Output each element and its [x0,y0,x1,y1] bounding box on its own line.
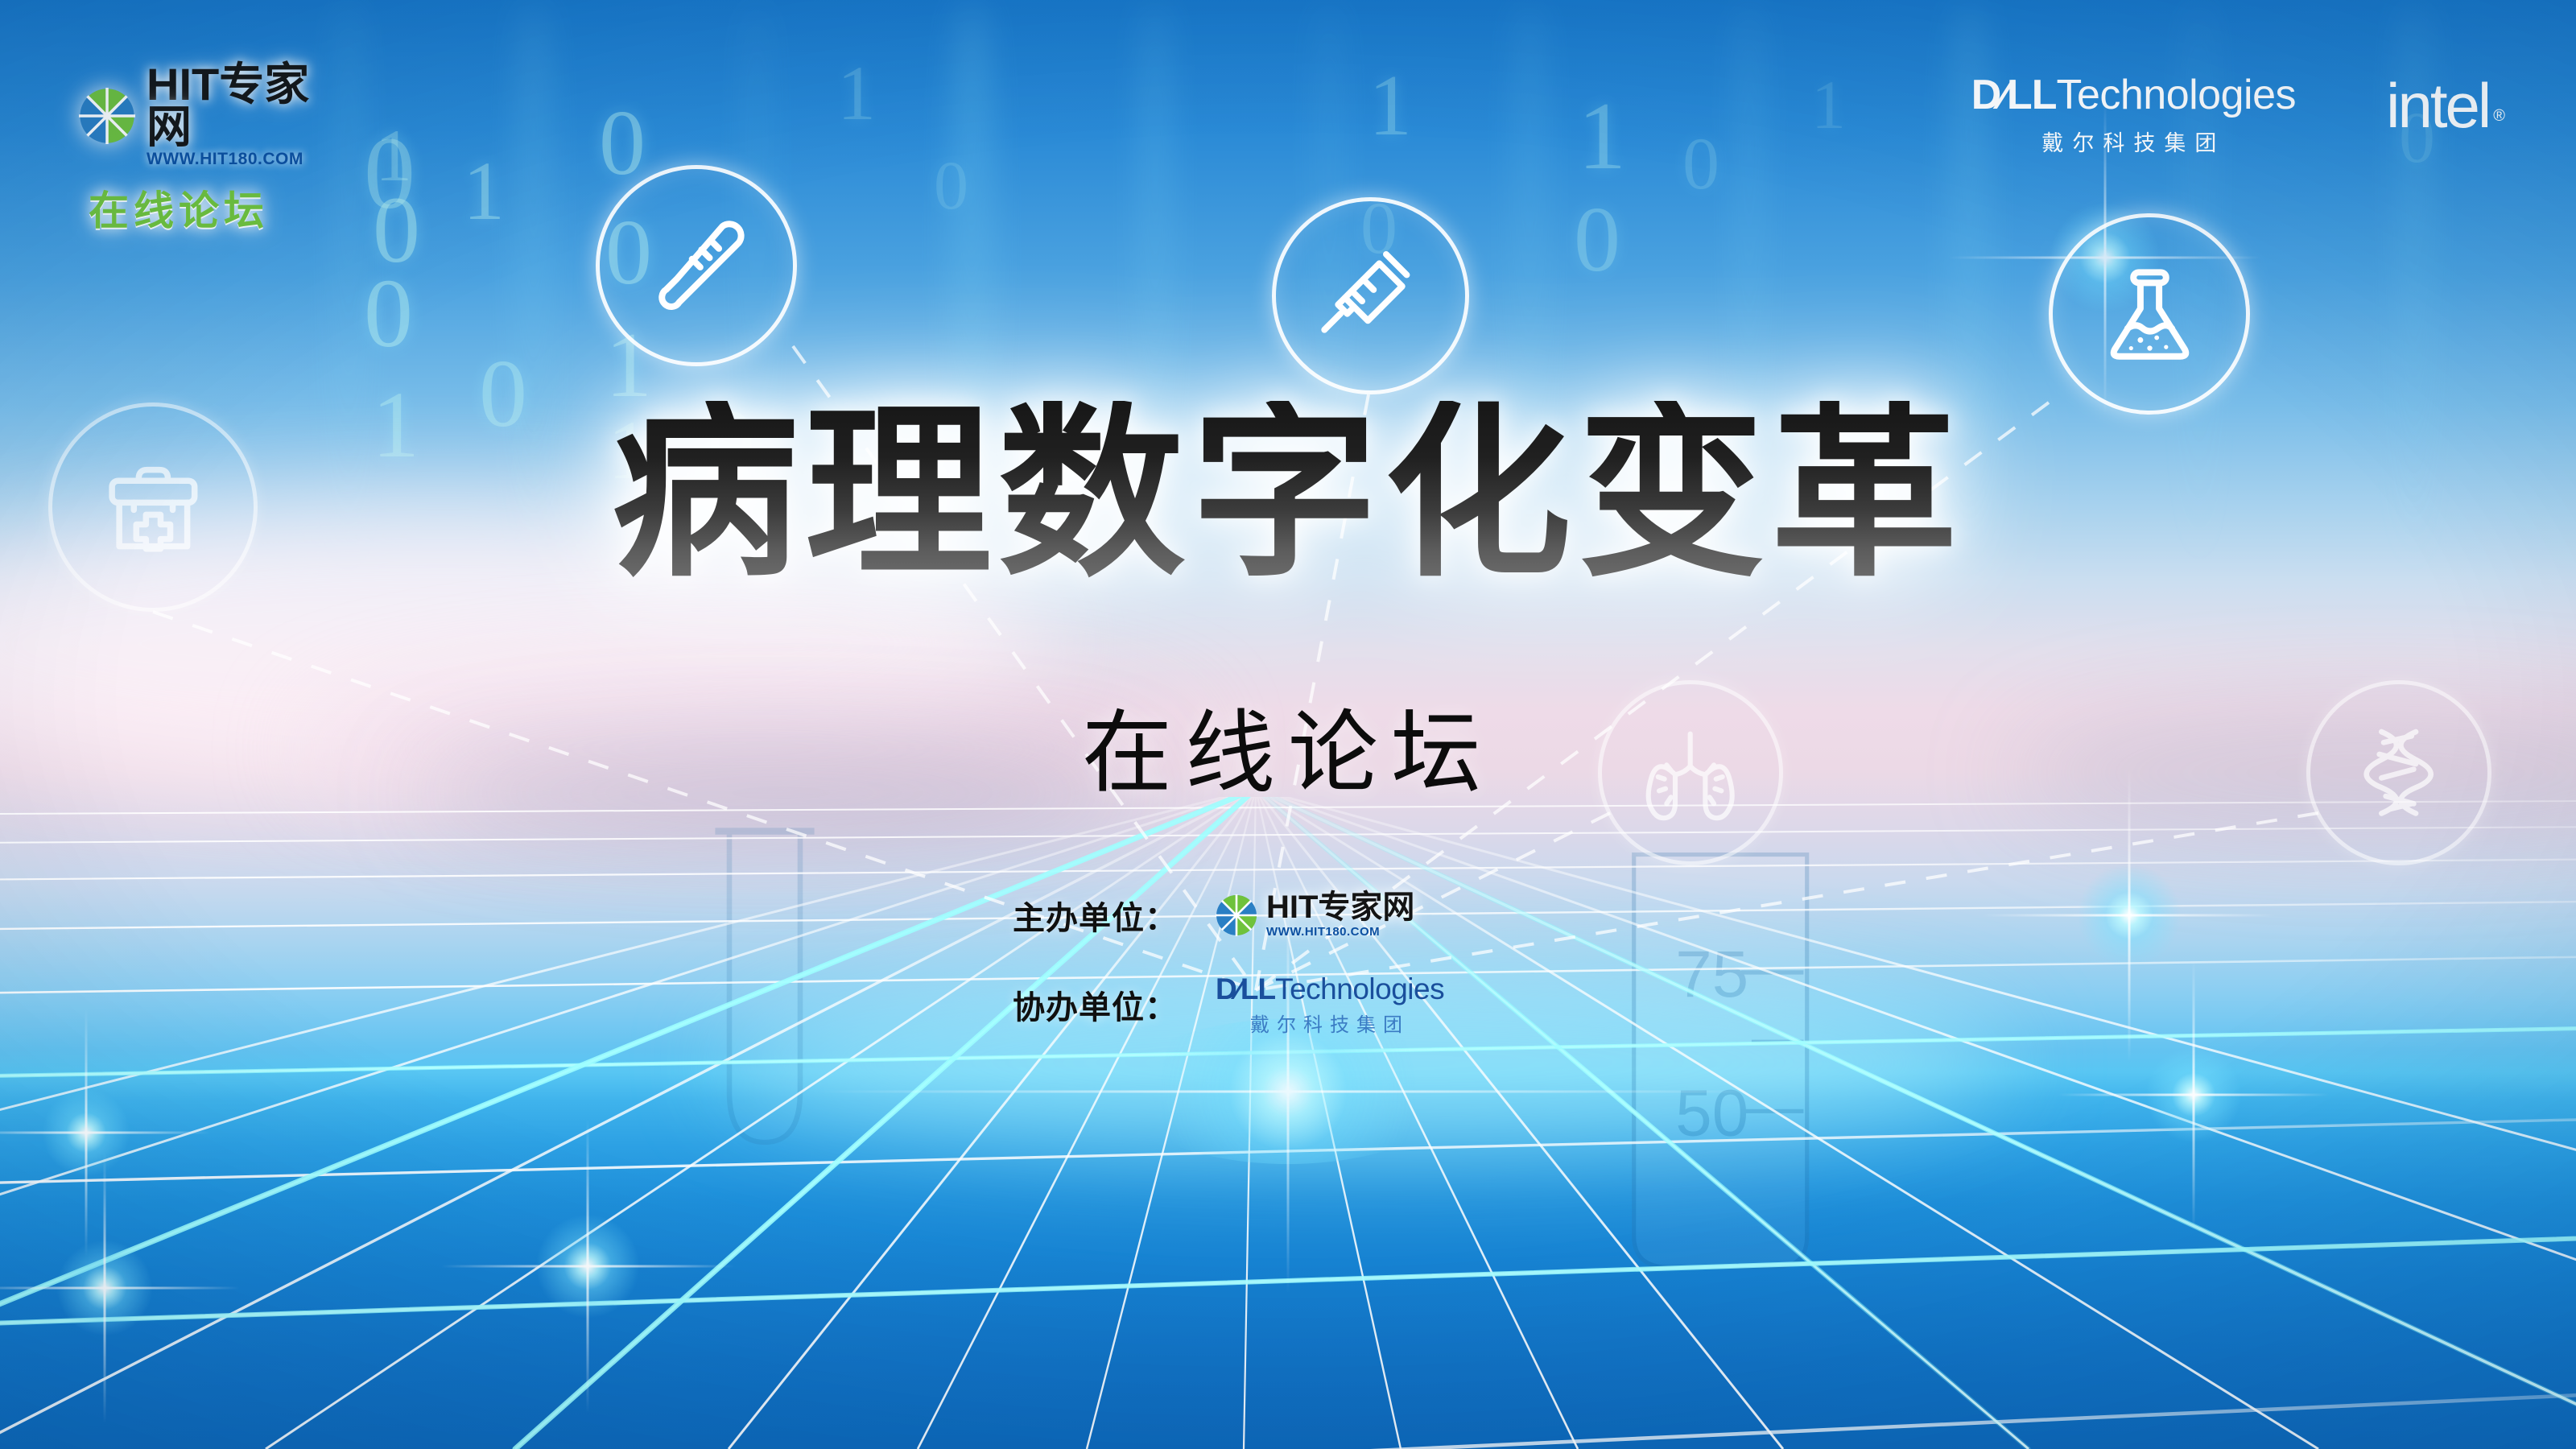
organizers-block: 主办单位： [1013,892,1444,1071]
flask-icon [2049,213,2250,415]
hit-url: WWW.HIT180.COM [147,150,320,169]
page-subtitle: 在线论坛 [0,680,2576,811]
dell-technologies-logo: D∕LLTechnologies 戴尔科技集团 [1971,71,2296,157]
hit-wordmark: HIT专家网 [147,63,320,148]
svg-text:50: 50 [1675,1076,1748,1150]
ghost-test-tube-left [676,821,853,1159]
host-hit-url: WWW.HIT180.COM [1266,925,1414,939]
glow-flare [56,1240,153,1336]
cohost-dell-bold: D∕LL [1216,972,1275,1005]
host-hit-wordmark: HIT专家网 [1266,892,1414,923]
title-container: 病理数字化变革 [0,401,2576,588]
intel-wordmark: intel [2386,77,2489,134]
organizer-row-host: 主办单位： [1013,892,1444,939]
host-hit-logo: HIT专家网 WWW.HIT180.COM [1216,892,1414,939]
glow-flare [2145,1046,2242,1143]
intel-logo: intel ® [2386,77,2505,134]
svg-text:75: 75 [1675,938,1748,1011]
page-title: 病理数字化变革 [612,401,1964,588]
hit-brand-logo: HIT专家网 WWW.HIT180.COM 在线论坛 [79,63,320,237]
cohost-dell-logo: D∕LLTechnologies 戴尔科技集团 [1216,972,1444,1037]
dell-wordmark-bold: D∕LL [1971,72,2057,118]
glow-flare [2077,863,2182,968]
intel-trademark: ® [2493,107,2505,126]
organizer-row-cohost: 协办单位： D∕LLTechnologies 戴尔科技集团 [1013,972,1444,1037]
glow-flare [42,1088,130,1177]
hit-pinwheel-mark [79,88,135,144]
cohost-dell-thin: Technologies [1275,972,1444,1005]
ghost-beaker-right: 75 50 [1534,837,1880,1288]
syringe-icon [1272,197,1469,394]
dell-chinese-name: 戴尔科技集团 [1971,126,2296,157]
glow-flare [535,1214,640,1319]
event-poster: 1 0 0 1 0 1 0 0 0 1 1 0 1 0 1 0 1 0 0 1 … [0,0,2576,1449]
host-label: 主办单位： [1013,892,1216,939]
cohost-dell-chinese: 戴尔科技集团 [1216,1009,1444,1037]
hit-forum-label: 在线论坛 [89,179,320,237]
thermometer-icon [596,165,797,366]
dell-wordmark-thin: Technologies [2056,72,2296,118]
cohost-label: 协办单位： [1013,981,1216,1028]
